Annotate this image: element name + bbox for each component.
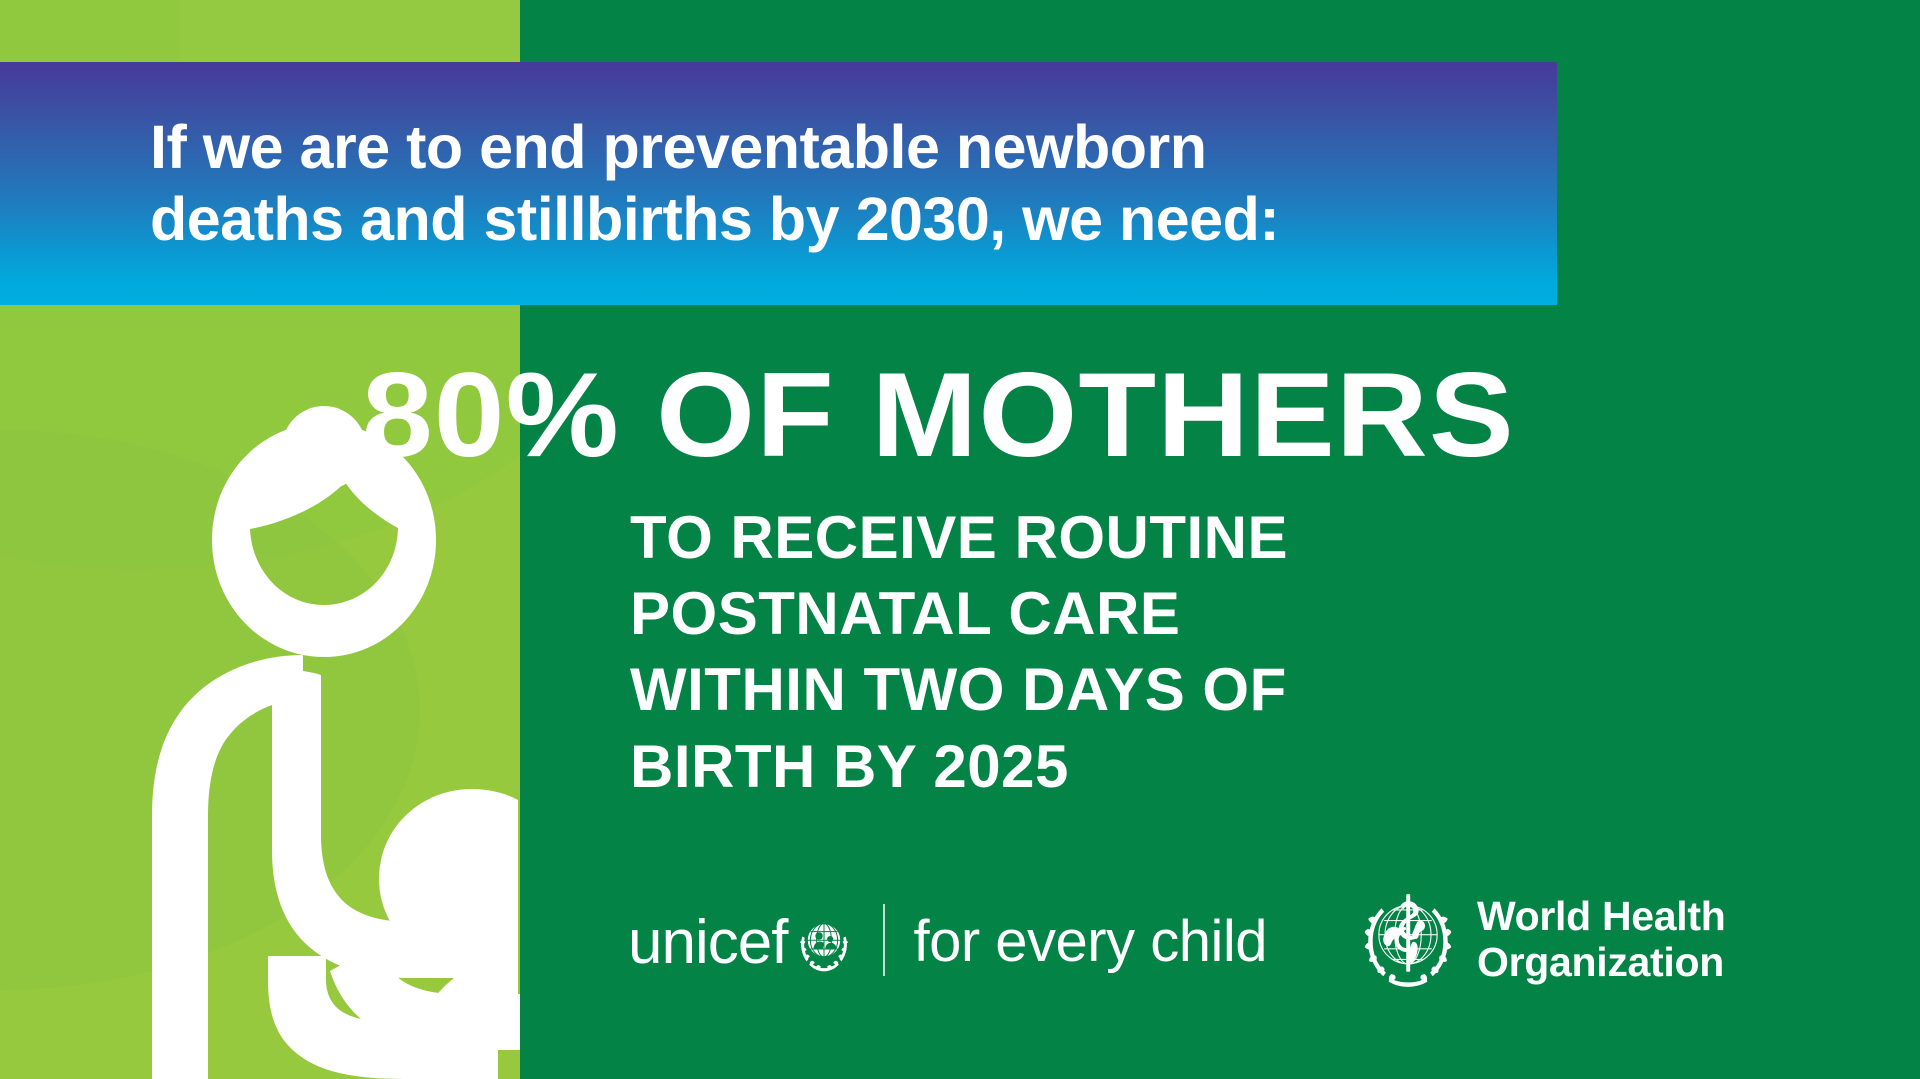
- who-name-line-1: World Health: [1477, 894, 1726, 940]
- body-line-4: BIRTH BY 2025: [630, 729, 1390, 805]
- body-line-3: WITHIN TWO DAYS OF: [630, 652, 1390, 728]
- who-logo: World Health Organization: [1355, 885, 1726, 995]
- headline-line-2: deaths and stillbirths by 2030, we need:: [150, 184, 1497, 256]
- infographic-poster: If we are to end preventable newborn dea…: [0, 0, 1920, 1079]
- body-copy: TO RECEIVE ROUTINE POSTNATAL CARE WITHIN…: [630, 500, 1390, 805]
- body-line-2: POSTNATAL CARE: [630, 576, 1390, 652]
- headline-banner: If we are to end preventable newborn dea…: [0, 62, 1557, 305]
- who-emblem-icon: [1355, 887, 1461, 993]
- unicef-wordmark: unicef: [628, 912, 787, 974]
- stat-headline: 80% OF MOTHERS: [362, 355, 1515, 475]
- mother-holding-baby-icon: [120, 405, 550, 1079]
- unicef-globe-emblem-icon: [793, 913, 855, 975]
- unicef-logo: unicef: [628, 892, 855, 988]
- unicef-tagline: for every child: [913, 913, 1267, 971]
- logo-row: unicef: [628, 892, 1725, 988]
- logo-divider: [883, 904, 885, 976]
- who-wordmark: World Health Organization: [1477, 894, 1726, 986]
- headline-line-1: If we are to end preventable newborn: [150, 112, 1497, 184]
- body-line-1: TO RECEIVE ROUTINE: [630, 500, 1390, 576]
- who-name-line-2: Organization: [1477, 940, 1726, 986]
